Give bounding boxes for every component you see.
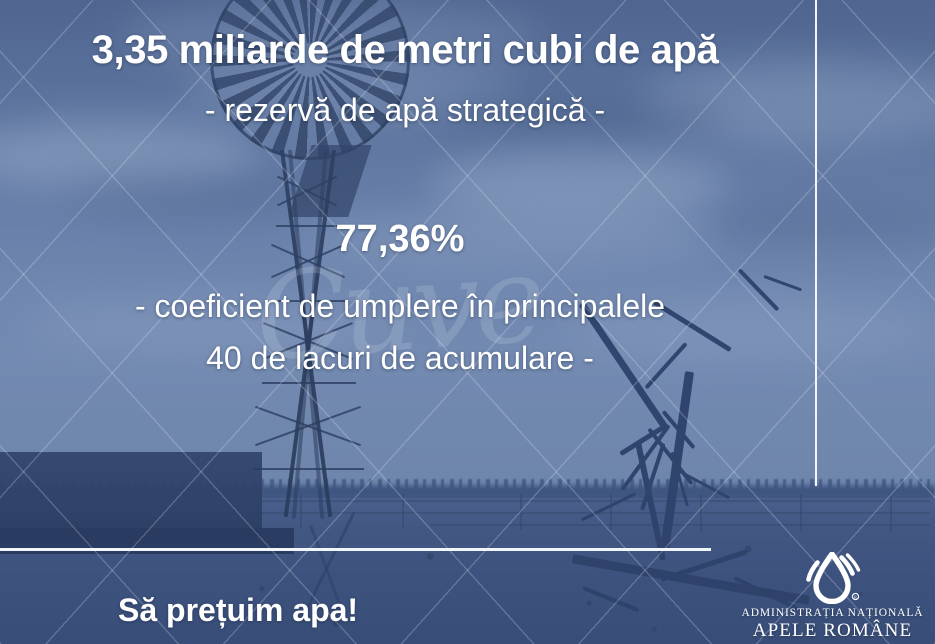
tower-brace	[262, 382, 356, 384]
logo-wordmark: ADMINISTRAȚIA NAȚIONALĂ APELE ROMÂNE	[735, 606, 930, 641]
subheadline: - rezervă de apă strategică -	[0, 92, 810, 129]
description-line-2: 40 de lacuri de acumulare -	[0, 340, 800, 377]
svg-text:R: R	[854, 595, 857, 600]
tree-branch	[635, 442, 666, 561]
percentage-value: 77,36%	[0, 218, 800, 261]
tree-branch	[582, 586, 639, 612]
poster: Cuve 3,35 miliarde de metri cubi de apă …	[0, 0, 935, 644]
organization-logo: R ADMINISTRAȚIA NAȚIONALĂ APELE ROMÂNE	[735, 552, 930, 640]
tree-branch	[581, 492, 636, 521]
slogan: Să prețuim apa!	[118, 592, 358, 629]
description-line-1: - coeficient de umplere în principalele	[0, 288, 800, 325]
tower-brace	[254, 468, 364, 470]
fence-post	[520, 494, 522, 530]
logo-line-2: APELE ROMÂNE	[735, 620, 930, 641]
horizontal-divider	[0, 548, 711, 551]
logo-line-1: ADMINISTRAȚIA NAȚIONALĂ	[735, 606, 930, 620]
headline: 3,35 miliarde de metri cubi de apă	[0, 28, 810, 73]
windmill-wheel-rim	[210, 0, 410, 160]
tree-branch	[678, 469, 731, 499]
vertical-divider	[815, 0, 817, 486]
windmill-tower	[150, 150, 450, 520]
water-droplet-icon: R	[795, 552, 869, 604]
